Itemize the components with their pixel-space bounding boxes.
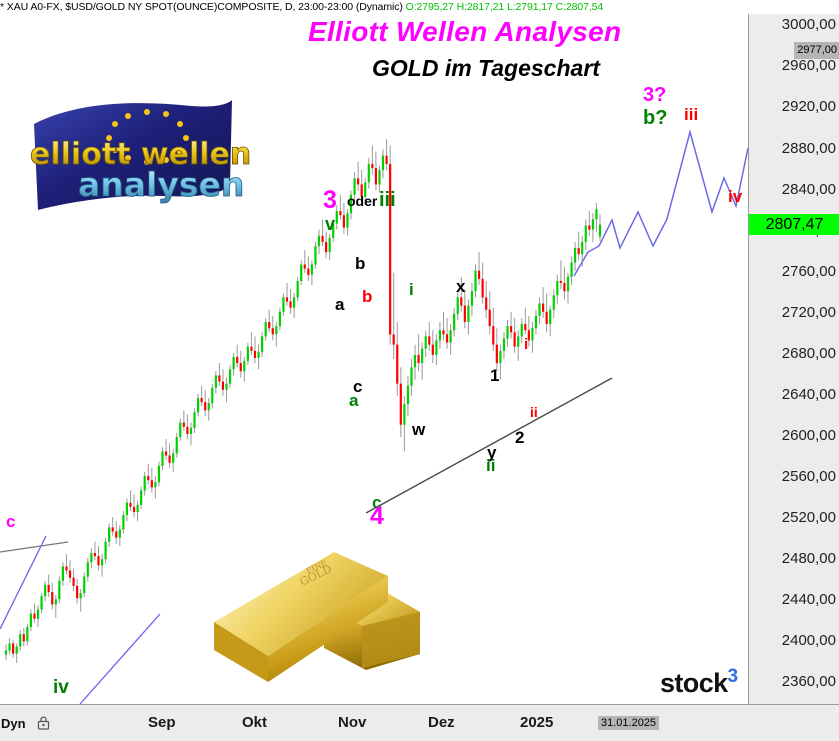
wave-label-w-c-magenta-left: c: [6, 513, 15, 530]
price-axis[interactable]: 3000,002960,002920,002880,002840,002800,…: [748, 14, 839, 704]
price-tick: 2680,00: [782, 346, 836, 362]
price-plot[interactable]: elliott wellen analysen: [0, 14, 748, 704]
price-tick: 2400,00: [782, 633, 836, 649]
price-tick: 3000,00: [782, 17, 836, 33]
high-marker-label: 2977,00: [794, 42, 839, 59]
wave-label-w-iii-green: iii: [379, 190, 396, 210]
price-tick: 2600,00: [782, 428, 836, 444]
price-tick: 2640,00: [782, 387, 836, 403]
price-tick: 2720,00: [782, 305, 836, 321]
time-tick: Nov: [338, 714, 366, 731]
quote-header: * XAU A0-FX, $USD/GOLD NY SPOT(OUNCE)COM…: [0, 0, 839, 14]
logo-text-line2: analysen: [78, 165, 244, 204]
wave-label-w-3-magenta: 3: [323, 188, 337, 213]
wave-label-w-i-green: i: [409, 281, 414, 298]
wave-label-w-ii-green: ii: [486, 457, 495, 474]
wave-label-w-iii-red: iii: [684, 106, 698, 123]
projection-path: [599, 132, 748, 248]
trendline-left-ascending-2: [80, 614, 160, 704]
wave-label-w-bq-green: b?: [643, 108, 667, 128]
price-tick: 2560,00: [782, 469, 836, 485]
price-tick: 2520,00: [782, 510, 836, 526]
wave-label-w-b-red: b: [362, 288, 372, 305]
wave-label-w-a-black: a: [335, 296, 344, 313]
time-axis[interactable]: Dyn SepOktNovDez202531.01.2025: [0, 704, 839, 741]
time-tick: Sep: [148, 714, 176, 731]
wave-label-w-w-black: w: [412, 421, 425, 438]
stock3-logo: stock3: [660, 666, 738, 699]
chart-screenshot: * XAU A0-FX, $USD/GOLD NY SPOT(OUNCE)COM…: [0, 0, 839, 740]
wave-label-w-oder: oder: [347, 194, 377, 208]
stock3-superscript: 3: [728, 666, 738, 687]
ohlc-values: O:2795,27 H:2817,21 L:2791,17 C:2807,54: [406, 1, 604, 13]
wave-label-w-i-red: i: [524, 337, 528, 352]
gold-bars-image: FINE GOLD: [196, 538, 428, 690]
lock-icon[interactable]: [36, 715, 51, 730]
last-price-label: 2807,47: [749, 214, 839, 235]
brand-logo: elliott wellen analysen: [16, 98, 288, 210]
price-tick: 2440,00: [782, 592, 836, 608]
wave-label-w-b-black-1: b: [355, 255, 365, 272]
current-date-box: 31.01.2025: [598, 716, 659, 730]
wave-label-w-3q-magenta: 3?: [643, 85, 666, 105]
symbol-descriptor: * XAU A0-FX, $USD/GOLD NY SPOT(OUNCE)COM…: [0, 1, 403, 13]
price-tick: 2480,00: [782, 551, 836, 567]
trendline-left-minor: [0, 542, 68, 552]
wave-label-w-4-magenta: 4: [370, 504, 384, 529]
wave-label-w-ii-red: ii: [530, 405, 538, 419]
stock3-wordmark: stock: [660, 668, 728, 698]
price-tick: 2840,00: [782, 182, 836, 198]
price-tick: 2960,00: [782, 58, 836, 74]
price-tick: 2360,00: [782, 674, 836, 690]
trendline-left-ascending: [0, 536, 46, 629]
time-tick: Okt: [242, 714, 267, 731]
wave-label-w-iv-red: iv: [728, 188, 742, 205]
time-tick: Dez: [428, 714, 455, 731]
price-tick: 2920,00: [782, 99, 836, 115]
page-subtitle: GOLD im Tageschart: [372, 55, 600, 82]
wave-label-w-1-black: 1: [490, 367, 499, 384]
dyn-label: Dyn: [1, 716, 26, 731]
projection-lead-in: [574, 246, 599, 276]
wave-label-w-iv-green-left: iv: [53, 678, 69, 697]
price-tick: 2760,00: [782, 264, 836, 280]
wave-label-w-v-green: v: [325, 215, 335, 233]
time-tick: 2025: [520, 714, 553, 731]
wave-label-w-2-black: 2: [515, 429, 524, 446]
wave-label-w-x-black: x: [456, 278, 465, 295]
price-tick: 2880,00: [782, 141, 836, 157]
wave-label-w-a-green: a: [349, 392, 358, 409]
page-title: Elliott Wellen Analysen: [308, 16, 621, 48]
